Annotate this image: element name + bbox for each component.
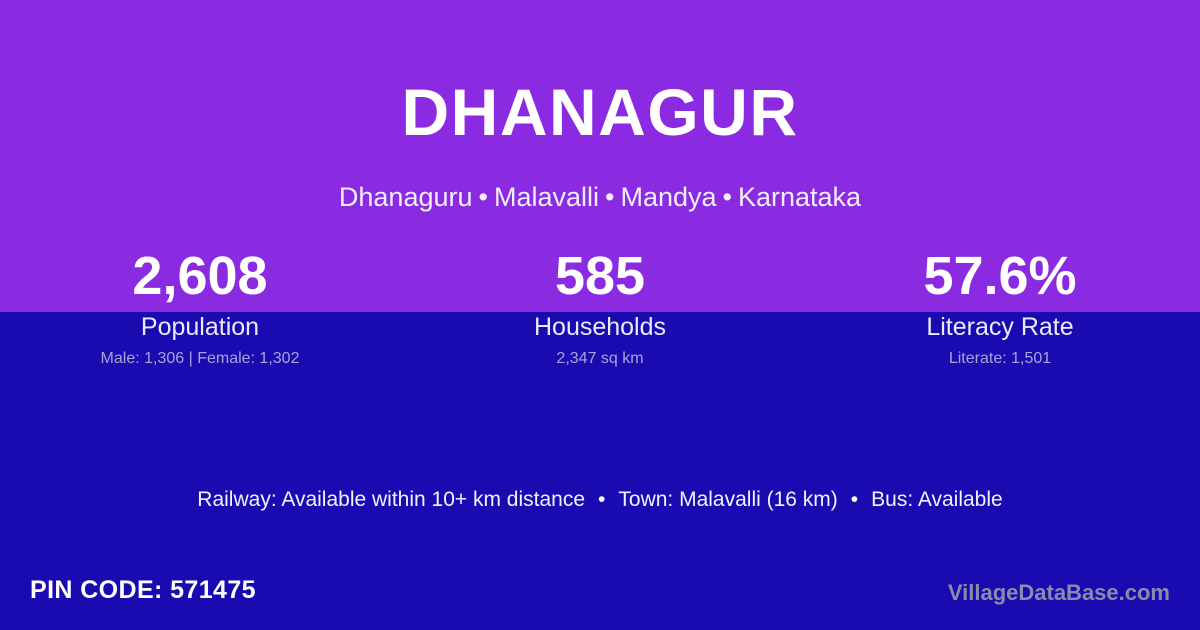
- stat-value-households: 585: [400, 246, 800, 306]
- breadcrumb: Dhanaguru•Malavalli•Mandya•Karnataka: [0, 181, 1200, 213]
- stat-label-literacy-rate: Literacy Rate: [800, 313, 1200, 341]
- stat-value-population: 2,608: [0, 246, 400, 306]
- breadcrumb-item-district: Mandya: [620, 182, 716, 212]
- connectivity-info-line: Railway: Available within 10+ km distanc…: [0, 487, 1200, 513]
- breadcrumb-item-village: Dhanaguru: [339, 182, 473, 212]
- page-title: DHANAGUR: [0, 78, 1200, 147]
- stat-label-households: Households: [400, 313, 800, 341]
- connectivity-bus: Bus: Available: [871, 488, 1003, 511]
- stat-population: 2,608 Population Male: 1,306 | Female: 1…: [0, 246, 400, 368]
- pin-code-label: PIN CODE: 571475: [30, 575, 256, 605]
- breadcrumb-separator-icon: •: [717, 182, 738, 212]
- stat-sub-literacy-rate: Literate: 1,501: [800, 349, 1200, 368]
- connectivity-town: Town: Malavalli (16 km): [618, 488, 837, 511]
- village-info-card: DHANAGUR Dhanaguru•Malavalli•Mandya•Karn…: [0, 0, 1200, 630]
- stat-households: 585 Households 2,347 sq km: [400, 246, 800, 368]
- breadcrumb-item-taluk: Malavalli: [494, 182, 599, 212]
- stats-row: 2,608 Population Male: 1,306 | Female: 1…: [0, 246, 1200, 368]
- stat-label-population: Population: [0, 313, 400, 341]
- connectivity-railway: Railway: Available within 10+ km distanc…: [197, 488, 585, 511]
- breadcrumb-item-state: Karnataka: [738, 182, 861, 212]
- connectivity-separator-icon: •: [838, 488, 871, 511]
- stat-sub-households: 2,347 sq km: [400, 349, 800, 368]
- breadcrumb-separator-icon: •: [599, 182, 620, 212]
- connectivity-separator-icon: •: [585, 488, 618, 511]
- stat-literacy-rate: 57.6% Literacy Rate Literate: 1,501: [800, 246, 1200, 368]
- stat-sub-population: Male: 1,306 | Female: 1,302: [0, 349, 400, 368]
- stat-value-literacy-rate: 57.6%: [800, 246, 1200, 306]
- site-brand-label: VillageDataBase.com: [948, 580, 1170, 606]
- breadcrumb-separator-icon: •: [473, 182, 494, 212]
